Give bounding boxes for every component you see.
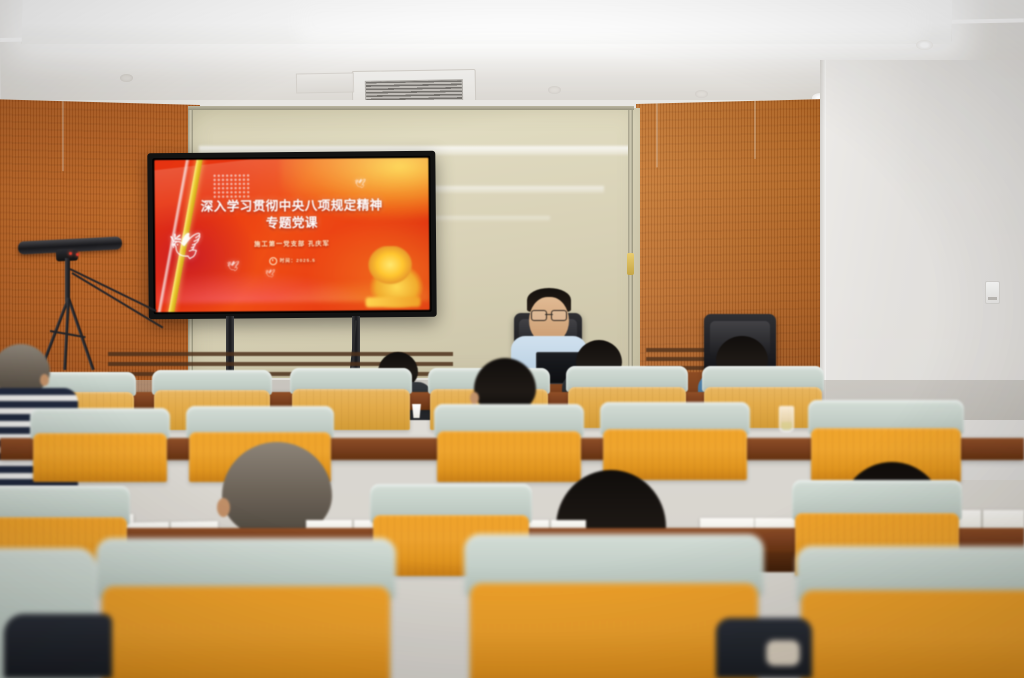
wall-panel-seam (62, 101, 64, 171)
seat-back (801, 590, 1024, 678)
seat-row4-3[interactable] (796, 546, 1024, 678)
wall-switch-plate-icon[interactable] (985, 281, 1000, 304)
tripod-center-column (65, 258, 70, 302)
slide-text-block: 深入学习贯彻中央八项规定精神 专题党课 施工第一党支部 孔庆军 时间：2025.… (155, 197, 430, 266)
seat-back (102, 586, 390, 678)
ceiling-sensor-icon (548, 86, 561, 94)
drinking-glass (779, 406, 794, 432)
seat-row2-3[interactable] (434, 404, 584, 482)
clock-icon (269, 257, 277, 265)
seat-row2-4[interactable] (600, 402, 750, 480)
seat-back (33, 433, 167, 482)
slide-date-label: 时间：2025.5 (280, 258, 316, 264)
slide-subtitle: 施工第一党支部 孔庆军 (155, 238, 429, 249)
photo-scene: 🕊 🕊 🕊 🕊 深入学习贯彻中央八项规定精神 专题党课 施工第一党支部 孔庆军 … (0, 0, 1024, 678)
door-handle-icon[interactable] (627, 253, 634, 275)
attendee-ear (470, 392, 479, 404)
display-screen: 🕊 🕊 🕊 🕊 深入学习贯彻中央八项规定精神 专题党课 施工第一党支部 孔庆军 … (154, 158, 429, 312)
recessed-downlight-icon (916, 40, 933, 50)
seat-back (470, 583, 758, 678)
partition-mullion (628, 108, 633, 376)
peace-dove-icon: 🕊 (265, 270, 275, 278)
seat-back (437, 431, 581, 482)
seat-row4-1[interactable] (96, 538, 396, 678)
ceiling-light-glow (300, 0, 920, 40)
recording-indicator-icon (69, 252, 72, 255)
ceiling-sensor-icon (695, 90, 708, 98)
partition-header (188, 106, 634, 110)
wall-panel-seam (754, 101, 756, 159)
attendee-ear (40, 374, 49, 386)
wall-panel-seam (656, 103, 658, 167)
attendee-hand (766, 640, 800, 666)
peace-dove-icon: 🕊 (355, 180, 367, 189)
slide-title-line-2: 专题党课 (155, 213, 429, 234)
wall-led-display[interactable]: 🕊 🕊 🕊 🕊 深入学习贯彻中央八项规定精神 专题党课 施工第一党支部 孔庆军 … (147, 151, 436, 320)
halftone-dot-grid (212, 173, 250, 199)
smoke-detector-icon (120, 74, 133, 82)
attendee-ear (217, 498, 230, 517)
attendee-shoulder (4, 614, 112, 678)
air-vent-secondary-icon (296, 72, 354, 93)
eyeglasses-icon (531, 310, 567, 319)
recording-indicator-icon (76, 253, 79, 256)
seat-row2-1[interactable] (30, 408, 170, 482)
